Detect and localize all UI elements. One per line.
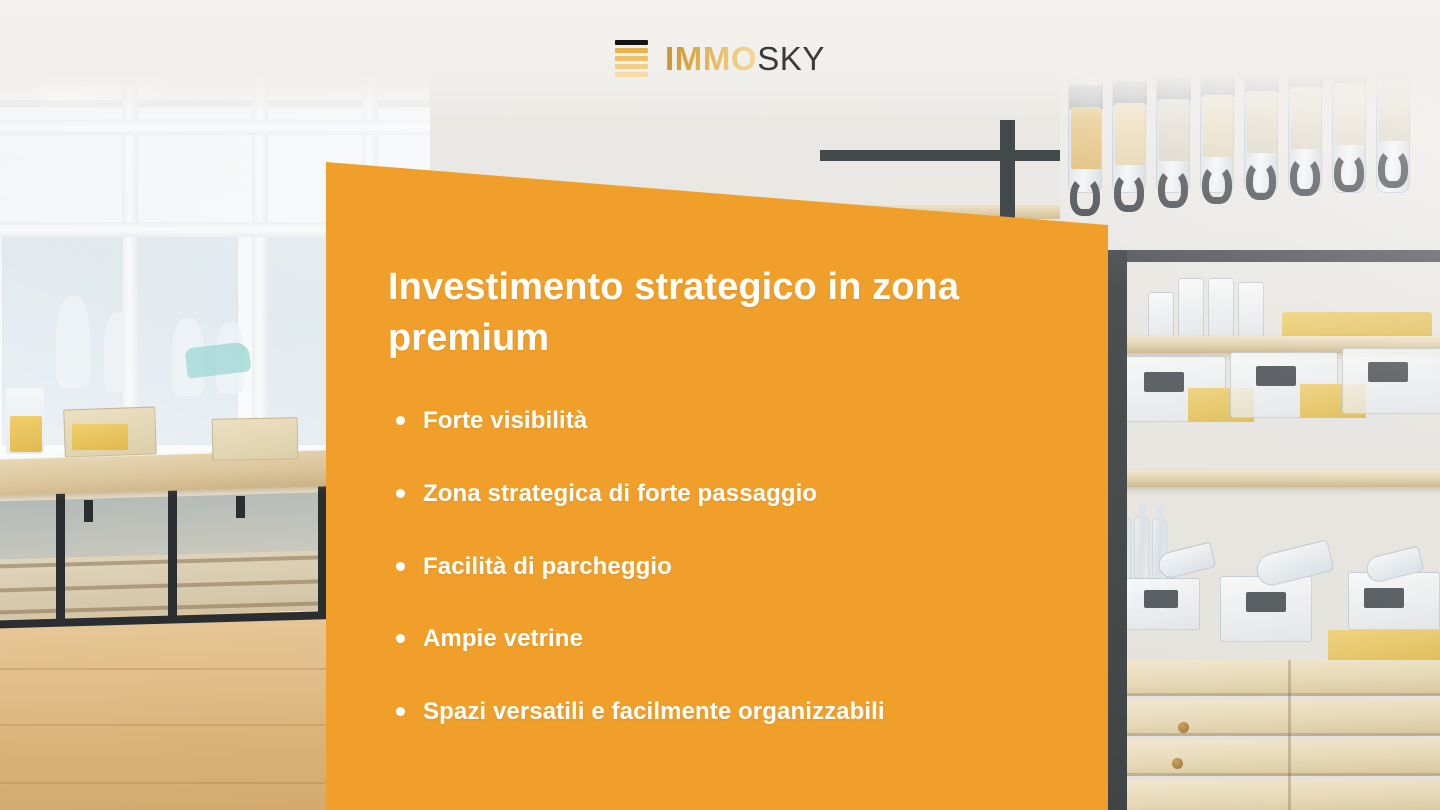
list-item: Forte visibilità [388,407,1108,436]
page-header: IMMOSKY [0,0,1440,120]
panel-title: Investimento strategico in zona premium [388,262,988,363]
feature-list: Forte visibilità Zona strategica di fort… [388,407,1108,727]
stacked-bars-icon [615,40,648,77]
content-overlay: Investimento strategico in zona premium … [0,0,1440,810]
list-item: Spazi versatili e facilmente organizzabi… [388,698,1108,727]
brand-name-primary: IMMO [665,40,757,77]
brand-wordmark: IMMOSKY [665,42,825,75]
highlight-panel-content: Investimento strategico in zona premium … [326,150,1108,810]
list-item: Facilità di parcheggio [388,553,1108,582]
brand-logo[interactable]: IMMOSKY [615,40,825,77]
brand-name-secondary: SKY [757,40,825,77]
list-item: Ampie vetrine [388,625,1108,654]
list-item: Zona strategica di forte passaggio [388,480,1108,509]
